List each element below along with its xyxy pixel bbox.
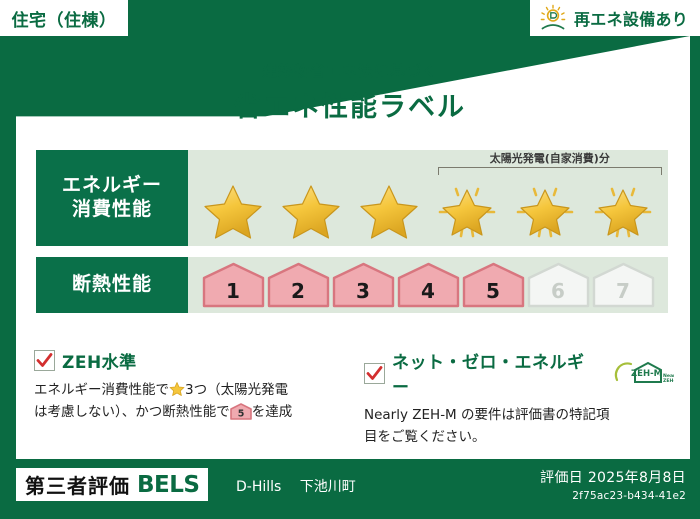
zeh-criteria-header: ZEH水準 bbox=[34, 348, 344, 373]
project-identification: D-Hills 下池川町 bbox=[236, 476, 356, 496]
criteria-zeh-standard: ZEH水準 エネルギー消費性能で3つ（太陽光発電は考慮しない）、かつ断熱性能で5… bbox=[34, 348, 344, 449]
zeh-m-logo-text: ZEH-M bbox=[631, 369, 662, 379]
insulation-grade-badge: 7 bbox=[592, 262, 655, 308]
zeh-criteria-title: ZEH水準 bbox=[62, 348, 137, 373]
zeh-text-part1: エネルギー消費性能で bbox=[34, 382, 169, 398]
star-icon bbox=[357, 179, 421, 241]
svg-text:5: 5 bbox=[237, 408, 244, 419]
energy-performance-label: 住宅（住棟） 再エネ設備あり 建築物省 bbox=[0, 0, 700, 519]
evaluation-date-value: 2025年8月8日 bbox=[588, 470, 686, 486]
star-sparkle-icon bbox=[435, 179, 499, 241]
energy-row-label: エネルギー 消費性能 bbox=[36, 150, 188, 246]
insulation-performance-row: 断熱性能 1 2 bbox=[36, 257, 668, 313]
label-heading-group: 建築物省エネ法に基づく 省エネ性能ラベル bbox=[0, 60, 700, 124]
insulation-grade-number: 7 bbox=[616, 279, 630, 308]
evaluation-date-line: 評価日 2025年8月8日 bbox=[540, 467, 686, 487]
energy-label-line1: エネルギー bbox=[62, 174, 162, 198]
nze-criteria-title: ネット・ゼロ・エネルギー bbox=[392, 348, 601, 398]
nze-text-line1: Nearly ZEH-M の要件は評価書の特記項 bbox=[364, 407, 610, 423]
star-sparkle-icon bbox=[591, 179, 655, 241]
evaluation-info: 評価日 2025年8月8日 2f75ac23-b434-41e2 bbox=[540, 467, 686, 502]
insulation-grade-badge: 6 bbox=[527, 262, 590, 308]
building-type-text: 住宅（住棟） bbox=[12, 6, 117, 31]
insulation-grade-scale: 1 2 3 bbox=[188, 257, 668, 313]
energy-performance-row: エネルギー 消費性能 太陽光発電(自家消費)分 bbox=[36, 150, 668, 246]
insulation-grade-badge: 3 bbox=[332, 262, 395, 308]
zeh-criteria-text: エネルギー消費性能で3つ（太陽光発電は考慮しない）、かつ断熱性能で5を達成 bbox=[34, 380, 344, 424]
evaluation-date-label: 評価日 bbox=[540, 470, 583, 486]
bels-certification-box: 第三者評価 BELS bbox=[16, 468, 208, 501]
heading-subtitle: 建築物省エネ法に基づく bbox=[0, 60, 700, 81]
zeh-text-part2: 3つ（太陽光発電 bbox=[185, 382, 288, 398]
insulation-grade-badge: 1 bbox=[202, 262, 265, 308]
inline-house-badge-icon: 5 bbox=[230, 403, 252, 420]
footer-bar: 第三者評価 BELS D-Hills 下池川町 評価日 2025年8月8日 2f… bbox=[0, 459, 700, 519]
zeh-text-part4: を達成 bbox=[252, 404, 293, 420]
insulation-row-body: 1 2 3 bbox=[188, 257, 668, 313]
star-icon bbox=[201, 179, 265, 241]
nze-text-line2: 目をご覧ください。 bbox=[364, 429, 486, 445]
zeh-m-logo-sub2: ZEH-M bbox=[663, 378, 674, 384]
renewable-badge-label: 再エネ設備あり bbox=[574, 6, 688, 30]
insulation-grade-number: 2 bbox=[291, 279, 305, 308]
check-icon bbox=[364, 363, 385, 384]
star-sparkle-icon bbox=[513, 179, 577, 241]
insulation-grade-badge: 2 bbox=[267, 262, 330, 308]
nze-criteria-text: Nearly ZEH-M の要件は評価書の特記項目をご覧ください。 bbox=[364, 405, 674, 449]
renewable-energy-badge: 再エネ設備あり bbox=[530, 0, 700, 36]
solar-sun-icon bbox=[538, 4, 568, 32]
solar-annotation-text: 太陽光発電(自家消費)分 bbox=[438, 152, 662, 166]
heading-title: 省エネ性能ラベル bbox=[0, 85, 700, 124]
insulation-grade-badge: 5 bbox=[462, 262, 525, 308]
building-type-tag: 住宅（住棟） bbox=[0, 0, 128, 36]
performance-rows: エネルギー 消費性能 太陽光発電(自家消費)分 bbox=[36, 150, 668, 324]
insulation-grade-number: 5 bbox=[486, 279, 500, 308]
nze-criteria-header: ネット・ゼロ・エネルギー ZEH-M Nearly ZEH-M bbox=[364, 348, 674, 398]
project-name: D-Hills bbox=[236, 479, 281, 495]
insulation-grade-number: 3 bbox=[356, 279, 370, 308]
star-icon bbox=[279, 179, 343, 241]
bels-logo-text: BELS bbox=[137, 472, 199, 498]
criteria-net-zero-energy: ネット・ゼロ・エネルギー ZEH-M Nearly ZEH-M Nearly Z… bbox=[364, 348, 674, 449]
energy-star-rating bbox=[188, 176, 668, 244]
insulation-grade-number: 4 bbox=[421, 279, 435, 308]
inline-star-icon bbox=[169, 381, 185, 397]
insulation-grade-number: 1 bbox=[226, 279, 240, 308]
evaluation-id: 2f75ac23-b434-41e2 bbox=[540, 490, 686, 502]
solar-annotation-bracket bbox=[438, 167, 662, 175]
insulation-grade-number: 6 bbox=[551, 279, 565, 308]
insulation-row-label: 断熱性能 bbox=[36, 257, 188, 313]
check-icon bbox=[34, 350, 55, 371]
bels-japanese-label: 第三者評価 bbox=[25, 470, 130, 499]
insulation-label-text: 断熱性能 bbox=[72, 273, 152, 297]
project-area: 下池川町 bbox=[300, 479, 356, 495]
zeh-text-part3: は考慮しない）、かつ断熱性能で bbox=[34, 404, 230, 420]
energy-row-body: 太陽光発電(自家消費)分 bbox=[188, 150, 668, 246]
insulation-grade-badge: 4 bbox=[397, 262, 460, 308]
energy-label-line2: 消費性能 bbox=[72, 198, 152, 222]
criteria-section: ZEH水準 エネルギー消費性能で3つ（太陽光発電は考慮しない）、かつ断熱性能で5… bbox=[34, 348, 674, 449]
zeh-m-logo-icon: ZEH-M Nearly ZEH-M bbox=[612, 360, 674, 387]
